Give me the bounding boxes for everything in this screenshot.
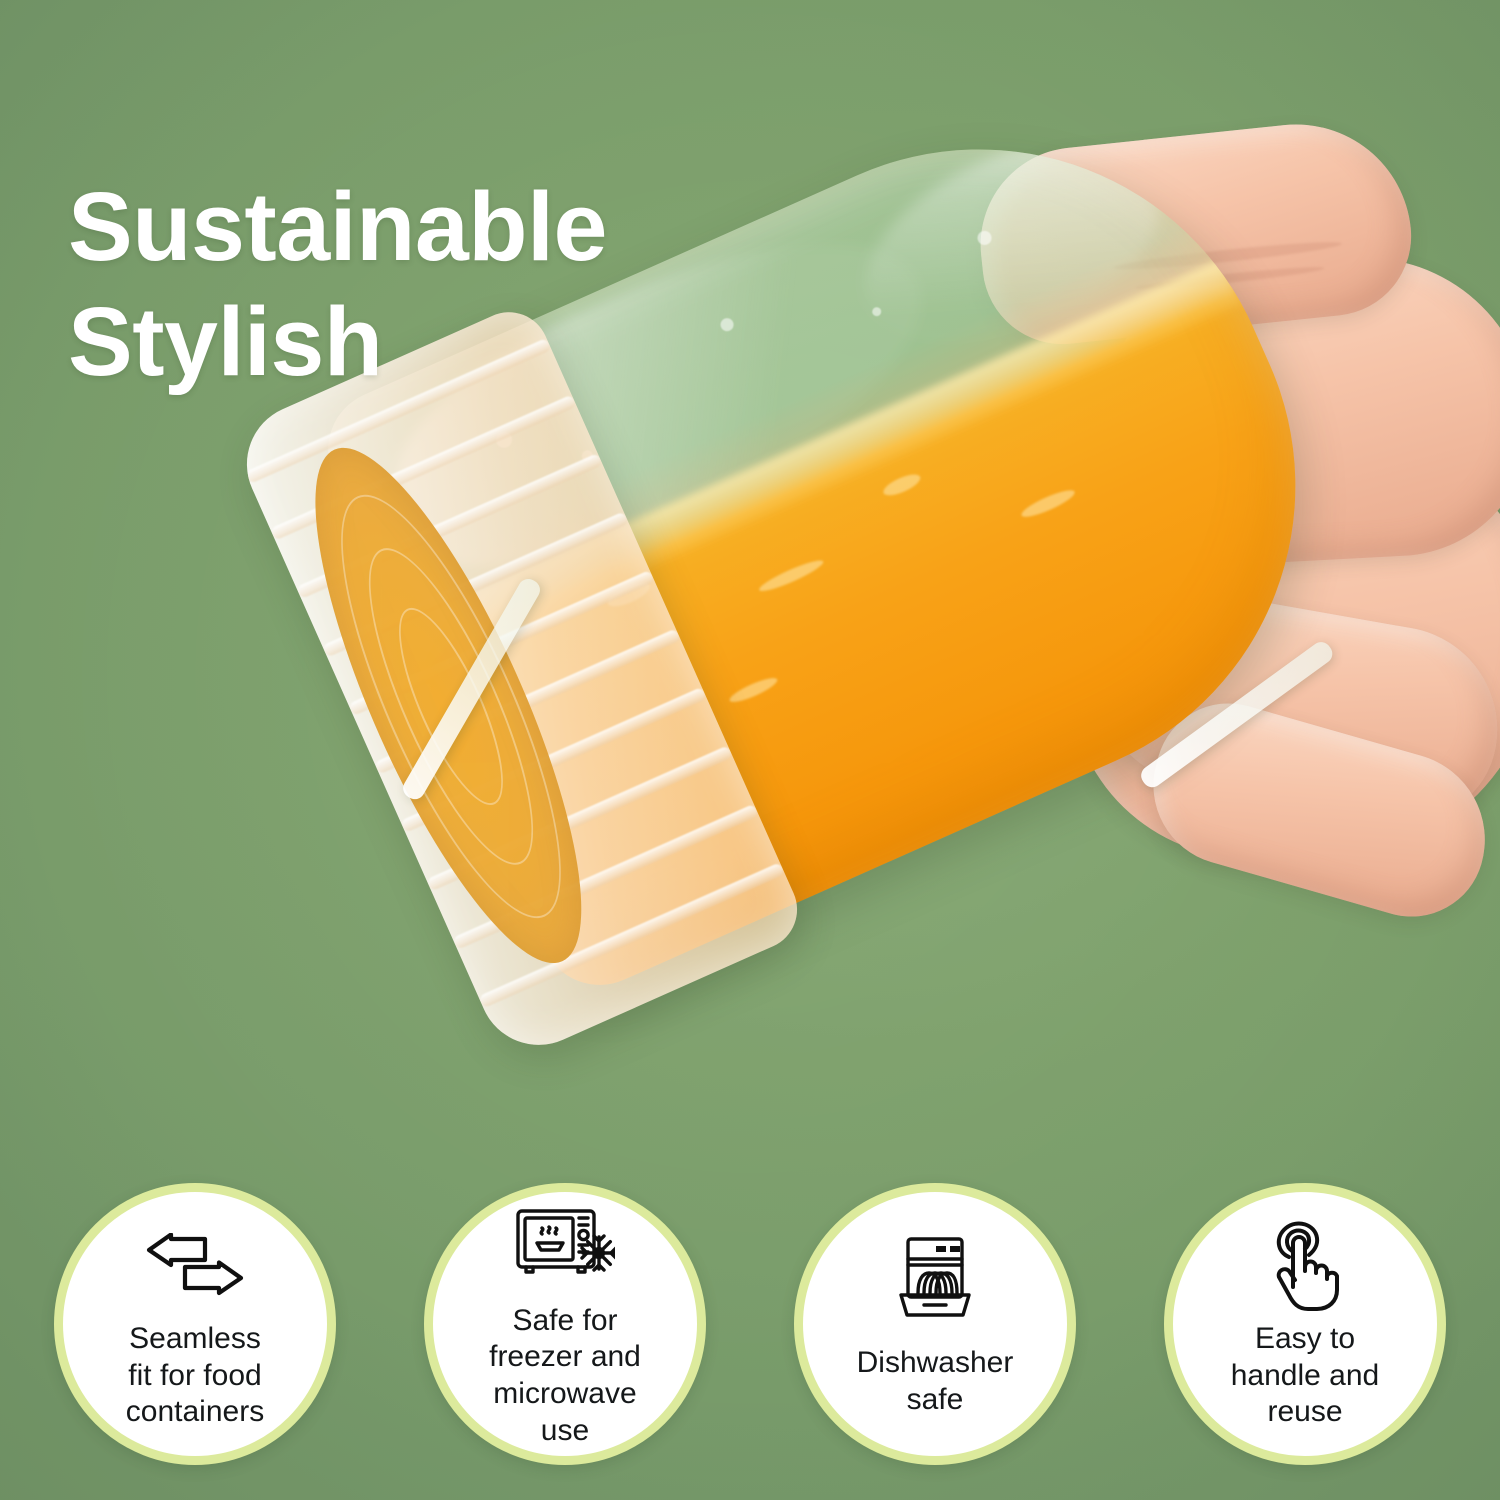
feature-badge-dishwasher-safe[interactable]: Dishwasher safe (794, 1183, 1076, 1465)
microwave-freezer-icon (513, 1199, 617, 1295)
tap-hand-icon (1253, 1217, 1357, 1313)
headline-line-1: Sustainable (68, 172, 607, 281)
headline-line-2: Stylish (68, 285, 607, 399)
page-title: Sustainable Stylish (68, 56, 607, 514)
feature-badge-easy-handle-reuse[interactable]: Easy to handle and reuse (1164, 1183, 1446, 1465)
feature-badge-seamless-fit[interactable]: Seamless fit for food containers (54, 1183, 336, 1465)
feature-badge-row: Seamless fit for food containers (0, 1164, 1500, 1484)
dishwasher-icon (883, 1229, 987, 1325)
feature-badge-freezer-microwave[interactable]: Safe for freezer and microwave use (424, 1183, 706, 1465)
feature-badge-label: Dishwasher safe (857, 1345, 1014, 1418)
feature-badge-label: Easy to handle and reuse (1231, 1321, 1379, 1431)
feature-badge-label: Seamless fit for food containers (126, 1321, 264, 1431)
product-marketing-poster: Sustainable Stylish (0, 0, 1500, 1500)
feature-badge-label: Safe for freezer and microwave use (489, 1303, 641, 1449)
exchange-arrows-icon (143, 1217, 247, 1313)
